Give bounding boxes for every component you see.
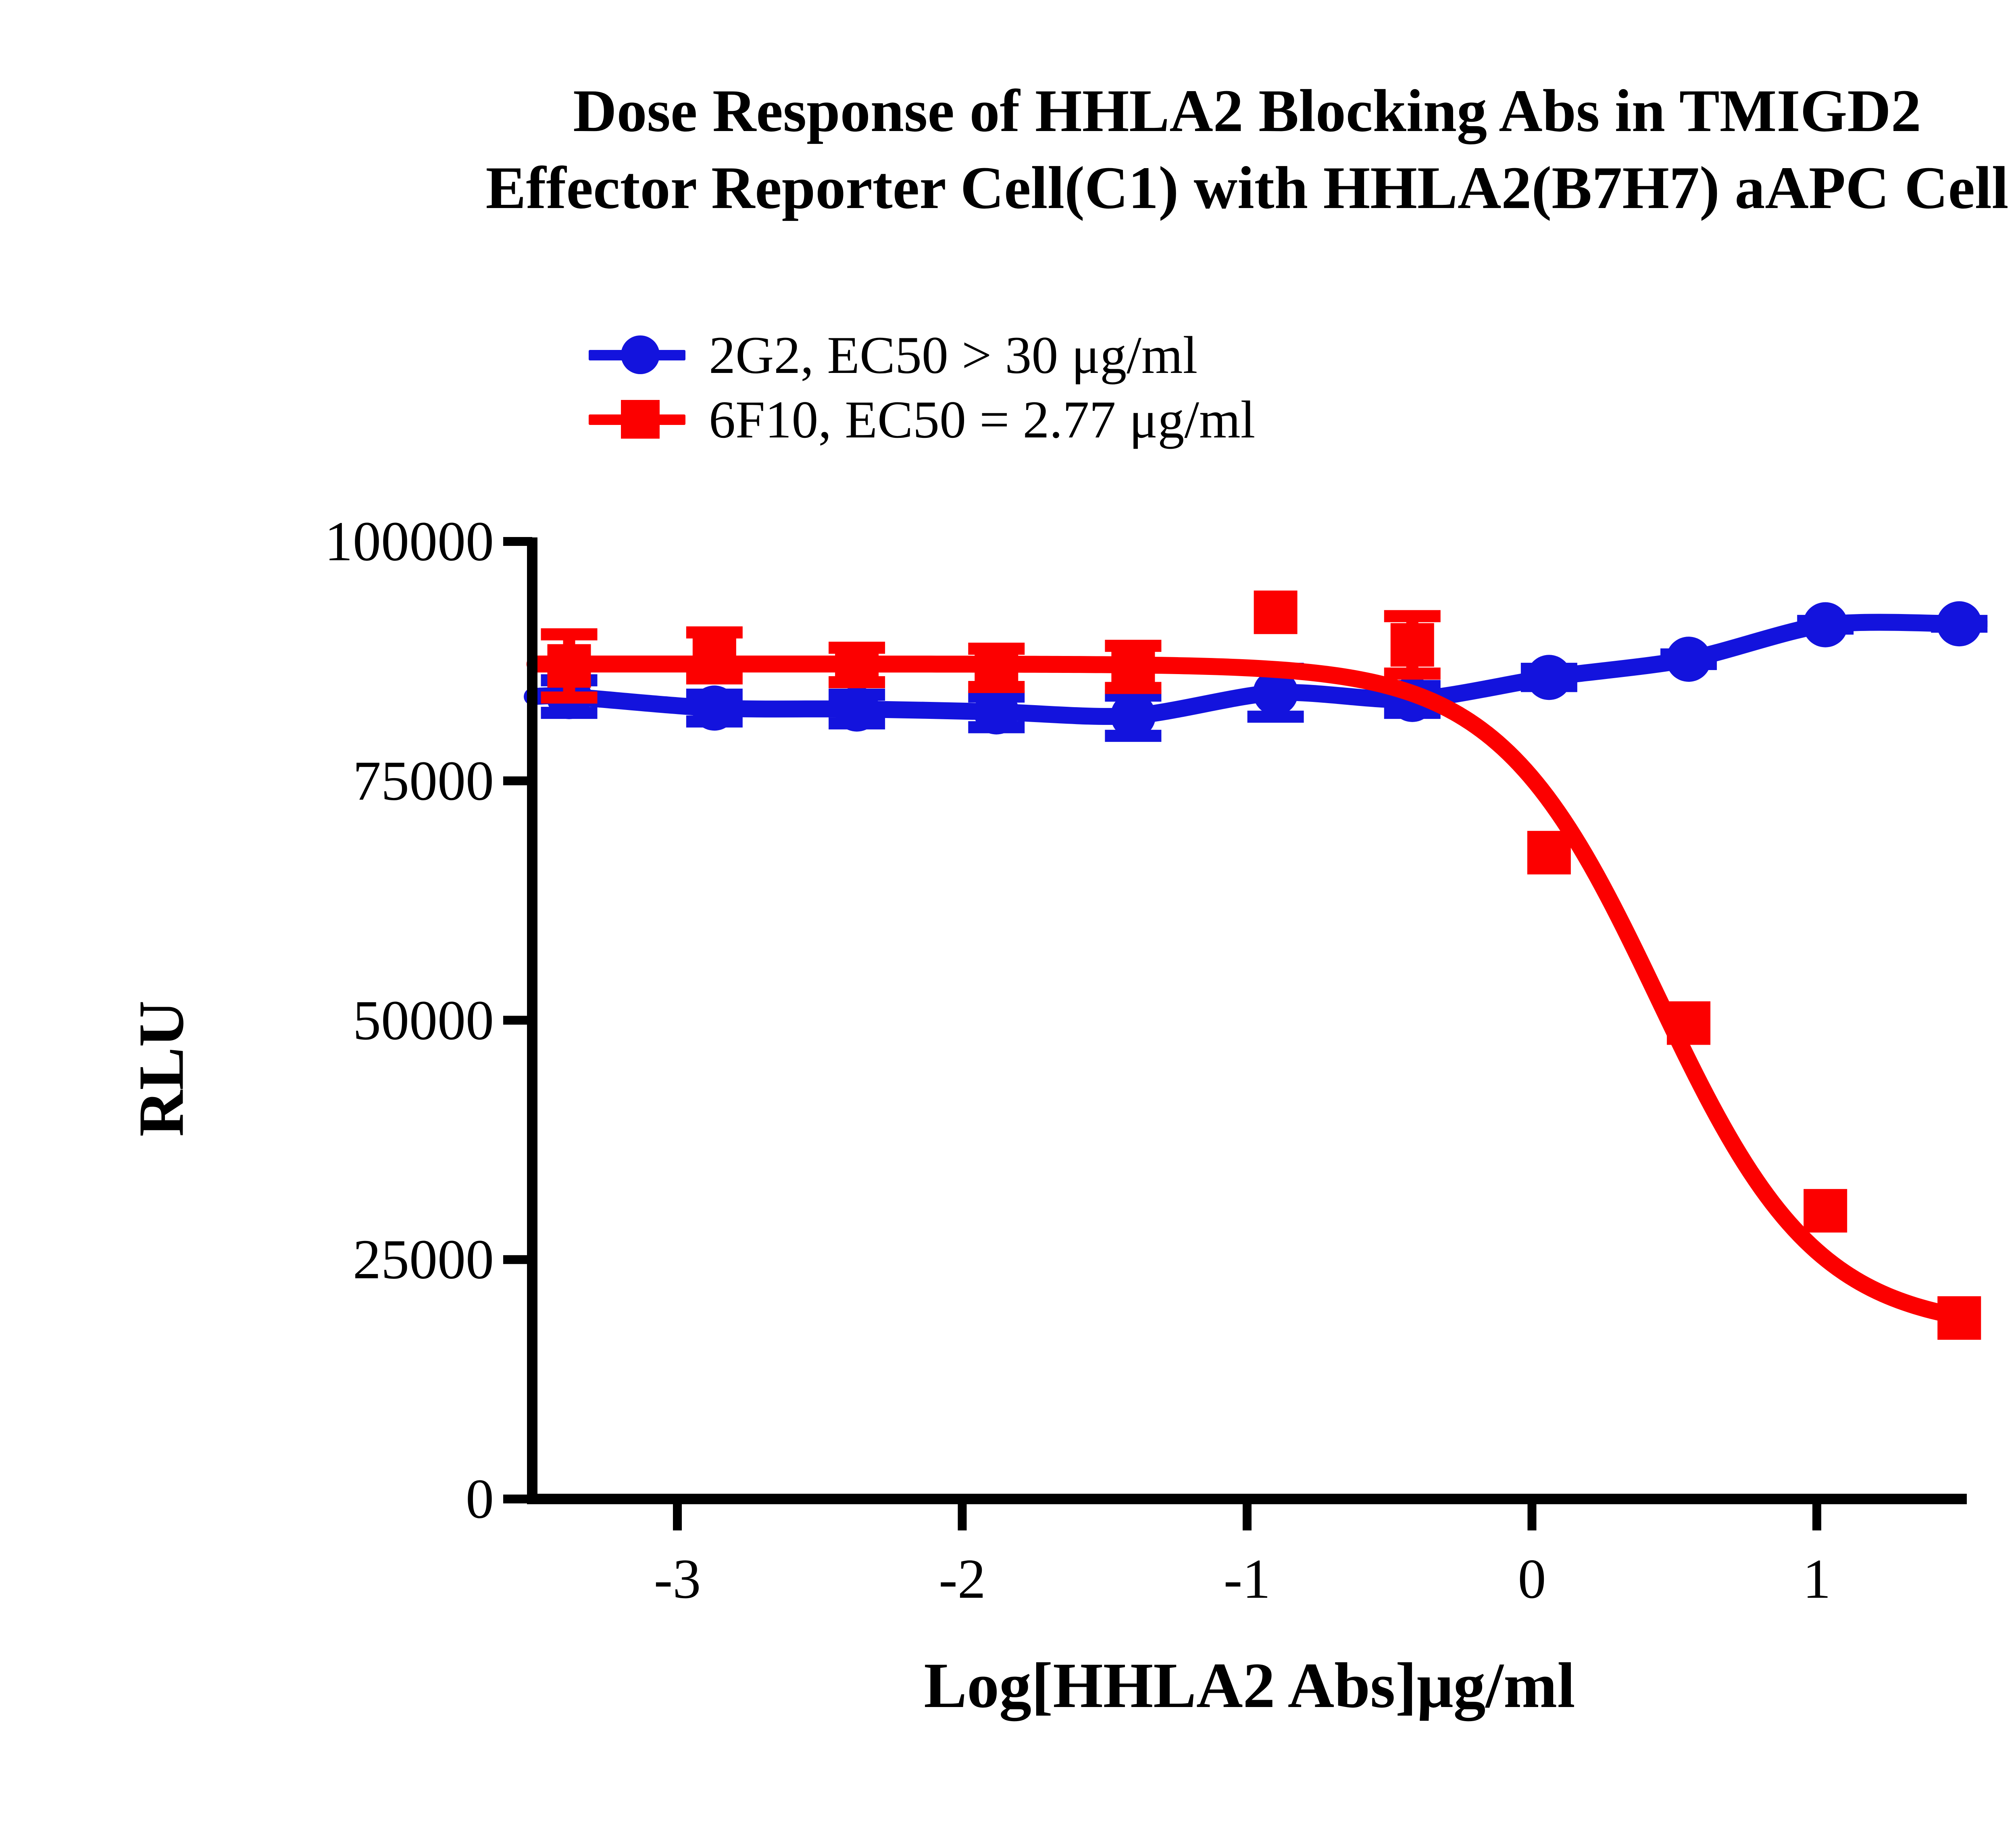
x-tick-label: -2 bbox=[939, 1547, 986, 1611]
data-point-marker bbox=[835, 643, 879, 687]
data-point-marker bbox=[1391, 623, 1434, 667]
y-axis-title: RLU bbox=[124, 1001, 198, 1137]
series-line bbox=[535, 664, 1965, 1318]
data-point-marker bbox=[1667, 1001, 1710, 1045]
x-tick-label: -3 bbox=[654, 1547, 701, 1611]
data-point-marker bbox=[1254, 591, 1297, 634]
data-point-marker bbox=[692, 685, 737, 731]
plot-canvas bbox=[0, 0, 2016, 1832]
y-tick-label: 0 bbox=[466, 1467, 494, 1532]
data-point-marker bbox=[1111, 645, 1155, 689]
data-point-marker bbox=[1527, 655, 1572, 700]
data-point-marker bbox=[548, 644, 591, 688]
series-layer bbox=[532, 591, 1987, 1340]
x-axis-title: Log[HHLA2 Abs]μg/ml bbox=[924, 1648, 1575, 1723]
x-tick-label: 0 bbox=[1518, 1547, 1546, 1611]
data-point-marker bbox=[834, 687, 879, 732]
data-point-marker bbox=[693, 634, 736, 677]
data-point-marker bbox=[1803, 602, 1848, 647]
y-tick-label: 75000 bbox=[353, 748, 494, 813]
y-tick-label: 25000 bbox=[353, 1227, 494, 1292]
chart-figure: Dose Response of HHLA2 Blocking Abs in T… bbox=[0, 0, 2016, 1832]
data-point-marker bbox=[1937, 601, 1982, 646]
data-point-marker bbox=[1110, 693, 1156, 738]
x-tick-label: -1 bbox=[1224, 1547, 1271, 1611]
x-tick-label: 1 bbox=[1803, 1547, 1831, 1611]
data-point-marker bbox=[1804, 1189, 1847, 1232]
data-point-marker bbox=[1666, 637, 1711, 682]
y-tick-label: 100000 bbox=[325, 509, 494, 574]
data-point-marker bbox=[1527, 831, 1571, 874]
axis-layer bbox=[503, 537, 1967, 1530]
y-tick-label: 50000 bbox=[353, 988, 494, 1053]
data-point-marker bbox=[975, 646, 1018, 690]
data-point-marker bbox=[974, 689, 1019, 735]
data-point-marker bbox=[1937, 1296, 1981, 1340]
